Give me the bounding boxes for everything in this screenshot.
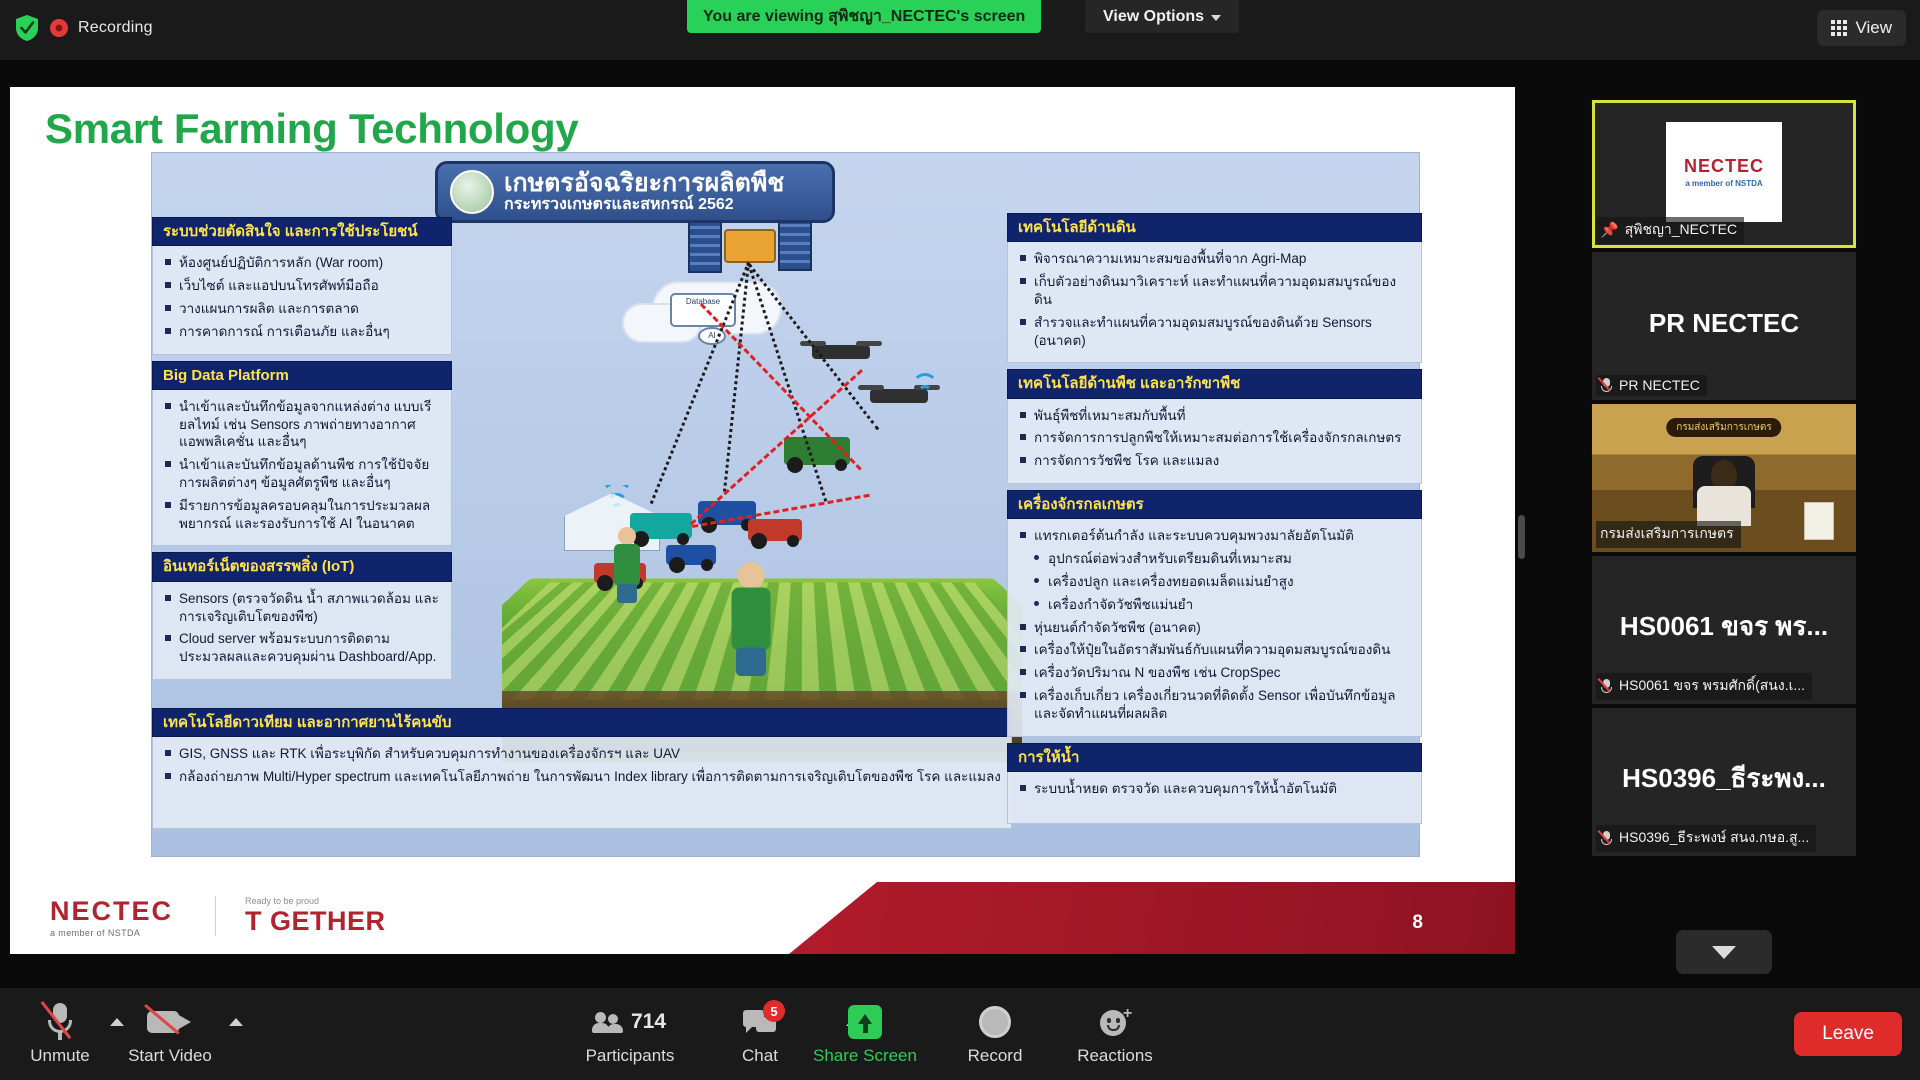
microphone-muted-icon: [1600, 378, 1613, 393]
satellite-body-icon: [724, 229, 776, 263]
together-logo-name: T GETHER: [245, 906, 386, 937]
diagram-title-line2: กระทรวงเกษตรและสหกรณ์ 2562: [504, 196, 734, 213]
start-video-label: Start Video: [128, 1046, 212, 1066]
participants-label: Participants: [586, 1046, 675, 1066]
participants-count: 714: [631, 1010, 666, 1034]
recording-label: Recording: [78, 19, 153, 37]
viewing-screen-banner: You are viewing สุพิชญา_NECTEC's screen: [687, 0, 1041, 33]
avatar: NECTEC a member of NSTDA: [1666, 122, 1782, 222]
list-item: อุปกรณ์ต่อพ่วงสำหรับเตรียมดินที่เหมาะสม: [1018, 550, 1411, 568]
list-item: วางแผนการผลิต และการตลาด: [163, 300, 441, 318]
participant-thumbnail[interactable]: PR NECTEC PR NECTEC: [1592, 252, 1856, 400]
reactions-label: Reactions: [1077, 1046, 1153, 1066]
list-item: การคาดการณ์ การเตือนภัย และอื่นๆ: [163, 323, 441, 341]
farmer-figure: [610, 527, 644, 603]
panel-body: แทรกเตอร์ต้นกำลัง และระบบควบคุมพวงมาลัยอ…: [1007, 519, 1422, 736]
recording-dot-icon[interactable]: [50, 19, 68, 37]
panel-header: ระบบช่วยตัดสินใจ และการใช้ประโยชน์: [152, 217, 452, 246]
together-logo: Ready to be proud T GETHER: [245, 896, 386, 937]
panel-iot: อินเทอร์เน็ตของสรรพสิ่ง (IoT) Sensors (ต…: [152, 552, 452, 680]
participants-button[interactable]: 714 Participants: [575, 1002, 685, 1066]
microphone-muted-icon: [1600, 831, 1613, 846]
record-circle-icon: [979, 1002, 1011, 1042]
list-item: เครื่องวัดปริมาณ N ของพืช เช่น CropSpec: [1018, 664, 1411, 682]
panel-header: เทคโนโลยีด้านพืช และอารักขาพืช: [1007, 369, 1422, 398]
panel-body: นำเข้าและบันทึกข้อมูลจากแหล่งต่าง แบบเรี…: [152, 390, 452, 547]
participant-name: สุพิชญา_NECTEC: [1625, 219, 1737, 241]
view-layout-button[interactable]: View: [1817, 10, 1906, 46]
chat-button[interactable]: 5 Chat: [705, 1002, 815, 1066]
data-flow-line: [700, 303, 862, 471]
filmstrip-scroll-down-button[interactable]: [1676, 930, 1772, 974]
list-item: เครื่องกำจัดวัชพืชแม่นยำ: [1018, 596, 1411, 614]
panel-header: เทคโนโลยีดาวเทียม และอากาศยานไร้คนขับ: [152, 708, 1012, 737]
footer-divider: [215, 896, 216, 936]
microphone-muted-icon: [1600, 679, 1613, 694]
panel-resize-handle[interactable]: [1518, 515, 1525, 559]
chat-unread-badge: 5: [763, 1000, 785, 1022]
grid-view-icon: [1831, 20, 1847, 36]
people-icon: 714: [594, 1002, 666, 1042]
list-item: ห้องศูนย์ปฏิบัติการหลัก (War room): [163, 254, 441, 272]
panel-header: การให้น้ำ: [1007, 743, 1422, 772]
panel-satellite-uav: เทคโนโลยีดาวเทียม และอากาศยานไร้คนขับ GI…: [152, 708, 1012, 829]
record-label: Record: [968, 1046, 1023, 1066]
view-options-button[interactable]: View Options: [1085, 0, 1239, 33]
document-shape: [1804, 502, 1834, 540]
page-title: Smart Farming Technology: [45, 105, 578, 153]
list-item: พิจารณาความเหมาะสมของพื้นที่จาก Agri-Map: [1018, 250, 1411, 268]
panel-body: ระบบน้ำหยด ตรวจวัด และควบคุมการให้น้ำอัต…: [1007, 772, 1422, 824]
avatar: HS0061 ขจร พร...: [1592, 606, 1856, 647]
chat-label: Chat: [742, 1046, 778, 1066]
recording-indicator-group: Recording: [14, 14, 153, 42]
participant-filmstrip: NECTEC a member of NSTDA 📌 สุพิชญา_NECTE…: [1592, 100, 1856, 980]
participant-name-tag: PR NECTEC: [1596, 375, 1707, 396]
panel-body: Sensors (ตรวจวัดดิน น้ำ สภาพแวดล้อม และก…: [152, 582, 452, 680]
participant-name-tag: HS0061 ขจร พรมศักดิ์(สนง.เ...: [1596, 673, 1812, 700]
tractor-icon: [666, 545, 716, 565]
panel-header: อินเทอร์เน็ตของสรรพสิ่ง (IoT): [152, 552, 452, 581]
panel-header: เครื่องจักรกลเกษตร: [1007, 490, 1422, 519]
panel-body: GIS, GNSS และ RTK เพื่อระบุพิกัด สำหรับค…: [152, 737, 1012, 829]
nectec-logo-sub: a member of NSTDA: [1685, 179, 1762, 188]
list-item: GIS, GNSS และ RTK เพื่อระบุพิกัด สำหรับค…: [163, 745, 1001, 763]
video-options-chevron-up-icon[interactable]: [229, 1018, 243, 1026]
participant-thumbnail[interactable]: HS0061 ขจร พร... HS0061 ขจร พรมศักดิ์(สน…: [1592, 556, 1856, 704]
nectec-logo: NECTEC a member of NSTDA: [50, 896, 173, 938]
record-button[interactable]: Record: [940, 1002, 1050, 1066]
smart-farming-diagram: Database AI: [151, 152, 1420, 857]
slide-footer: NECTEC a member of NSTDA Ready to be pro…: [10, 882, 1515, 954]
list-item: การจัดการวัชพืช โรค และแมลง: [1018, 452, 1411, 470]
avatar: HS0396_ธีระพง...: [1592, 758, 1856, 799]
reactions-button[interactable]: + Reactions: [1060, 1002, 1170, 1066]
participant-name-tag: 📌 สุพิชญา_NECTEC: [1596, 217, 1744, 244]
share-screen-button[interactable]: Share Screen: [810, 1002, 920, 1066]
participant-thumbnail[interactable]: HS0396_ธีระพง... HS0396_ธีระพงษ์ สนง.กษอ…: [1592, 708, 1856, 856]
farm-scene-illustration: Database AI: [502, 193, 1022, 793]
list-item: Sensors (ตรวจวัดดิน น้ำ สภาพแวดล้อม และก…: [163, 590, 441, 626]
smiley-plus-icon: +: [1098, 1002, 1132, 1042]
view-button-label: View: [1855, 18, 1892, 38]
pin-icon: 📌: [1600, 223, 1619, 238]
camera-off-icon: [147, 1002, 193, 1042]
list-item: เครื่องให้ปุ๋ยในอัตราสัมพันธ์กับแผนที่คว…: [1018, 641, 1411, 659]
participant-name: HS0061 ขจร พรมศักดิ์(สนง.เ...: [1619, 675, 1805, 697]
list-item: สำรวจและทำแผนที่ความอุดมสมบูรณ์ของดินด้ว…: [1018, 314, 1411, 350]
list-item: นำเข้าและบันทึกข้อมูลด้านพืช การใช้ปัจจั…: [163, 456, 441, 492]
farmer-figure: [726, 562, 777, 676]
leave-button[interactable]: Leave: [1794, 1012, 1902, 1056]
panel-body: พันธุ์พืชที่เหมาะสมกับพื้นที่ การจัดการก…: [1007, 399, 1422, 484]
list-item: แทรกเตอร์ต้นกำลัง และระบบควบคุมพวงมาลัยอ…: [1018, 527, 1411, 545]
list-item: กล้องถ่ายภาพ Multi/Hyper spectrum และเทค…: [163, 768, 1001, 786]
chevron-down-icon: [1211, 15, 1221, 21]
right-panel-column: เทคโนโลยีด้านดิน พิจารณาความเหมาะสมของพื…: [1007, 213, 1422, 824]
satellite-panel-icon: [688, 217, 722, 273]
security-shield-icon[interactable]: [14, 14, 40, 42]
participant-thumbnail[interactable]: กรมส่งเสริมการเกษตร กรมส่งเสริมการเกษตร: [1592, 404, 1856, 552]
participant-name: กรมส่งเสริมการเกษตร: [1600, 523, 1734, 545]
chevron-down-icon: [1712, 946, 1736, 959]
panel-big-data-platform: Big Data Platform นำเข้าและบันทึกข้อมูลจ…: [152, 361, 452, 547]
list-item: ระบบน้ำหยด ตรวจวัด และควบคุมการให้น้ำอัต…: [1018, 780, 1411, 798]
list-item: เครื่องเก็บเกี่ยว เครื่องเกี่ยวนวดที่ติด…: [1018, 687, 1411, 723]
panel-body: ห้องศูนย์ปฏิบัติการหลัก (War room) เว็บไ…: [152, 246, 452, 354]
participant-thumbnail[interactable]: NECTEC a member of NSTDA 📌 สุพิชญา_NECTE…: [1592, 100, 1856, 248]
panel-body: พิจารณาความเหมาะสมของพื้นที่จาก Agri-Map…: [1007, 242, 1422, 363]
list-item: หุ่นยนต์กำจัดวัชพืช (อนาคต): [1018, 619, 1411, 637]
share-screen-arrow-icon: [848, 1002, 882, 1042]
panel-decision-support: ระบบช่วยตัดสินใจ และการใช้ประโยชน์ ห้องศ…: [152, 217, 452, 355]
avatar: PR NECTEC: [1592, 308, 1856, 339]
list-item: Cloud server พร้อมระบบการติดตาม ประมวลผล…: [163, 630, 441, 666]
footer-red-wedge: [415, 882, 1515, 954]
top-bar: Recording You are viewing สุพิชญา_NECTEC…: [0, 0, 1920, 60]
left-panel-column: ระบบช่วยตัดสินใจ และการใช้ประโยชน์ ห้องศ…: [152, 217, 452, 680]
list-item: การจัดการการปลูกพืชให้เหมาะสมต่อการใช้เค…: [1018, 429, 1411, 447]
together-tagline: Ready to be proud: [245, 896, 386, 906]
participant-name: PR NECTEC: [1619, 377, 1700, 393]
participant-name-tag: กรมส่งเสริมการเกษตร: [1596, 521, 1741, 548]
nectec-logo-name: NECTEC: [50, 896, 173, 927]
satellite-panel-icon: [778, 215, 812, 271]
panel-header: Big Data Platform: [152, 361, 452, 390]
diagram-title-line1: เกษตรอัจฉริยะการผลิตพืช: [504, 169, 784, 197]
panel-crop-technology: เทคโนโลยีด้านพืช และอารักขาพืช พันธุ์พืช…: [1007, 369, 1422, 484]
microphone-muted-icon: [45, 1002, 75, 1042]
list-item: เครื่องปลูก และเครื่องทยอดเมล็ดแม่นยำสูง: [1018, 573, 1411, 591]
list-item: เก็บตัวอย่างดินมาวิเคราะห์ และทำแผนที่คว…: [1018, 273, 1411, 309]
panel-header: เทคโนโลยีด้านดิน: [1007, 213, 1422, 242]
slide-page-number: 8: [1412, 912, 1423, 934]
wifi-signal-icon: [902, 369, 948, 399]
room-sign-text: กรมส่งเสริมการเกษตร: [1666, 418, 1781, 437]
shared-screen-slide[interactable]: Smart Farming Technology Database AI: [10, 87, 1515, 954]
list-item: พันธุ์พืชที่เหมาะสมกับพื้นที่: [1018, 407, 1411, 425]
participant-name: HS0396_ธีระพงษ์ สนง.กษอ.สู...: [1619, 827, 1809, 849]
nectec-logo-name: NECTEC: [1684, 156, 1764, 177]
list-item: เว็บไซต์ และแอปบนโทรศัพท์มือถือ: [163, 277, 441, 295]
panel-soil-technology: เทคโนโลยีด้านดิน พิจารณาความเหมาะสมของพื…: [1007, 213, 1422, 363]
view-options-label: View Options: [1103, 8, 1204, 26]
start-video-button[interactable]: Start Video: [115, 1002, 225, 1066]
meeting-toolbar: Unmute Start Video 714 Participants 5 Ch…: [0, 988, 1920, 1080]
list-item: มีรายการข้อมูลครอบคลุมในการประมวลผล พยาก…: [163, 497, 441, 533]
participant-name-tag: HS0396_ธีระพงษ์ สนง.กษอ.สู...: [1596, 825, 1816, 852]
panel-agricultural-machinery: เครื่องจักรกลเกษตร แทรกเตอร์ต้นกำลัง และ…: [1007, 490, 1422, 737]
panel-irrigation: การให้น้ำ ระบบน้ำหยด ตรวจวัด และควบคุมกา…: [1007, 743, 1422, 824]
unmute-label: Unmute: [30, 1046, 90, 1066]
list-item: นำเข้าและบันทึกข้อมูลจากแหล่งต่าง แบบเรี…: [163, 398, 441, 451]
person-body-shape: [1697, 486, 1751, 526]
viewing-screen-text: You are viewing สุพิชญา_NECTEC's screen: [703, 4, 1025, 29]
ministry-seal-icon: [450, 170, 494, 214]
share-screen-label: Share Screen: [813, 1046, 917, 1066]
chat-bubble-icon: 5: [743, 1002, 777, 1042]
tractor-icon: [748, 519, 802, 541]
diagram-title-banner: เกษตรอัจฉริยะการผลิตพืช กระทรวงเกษตรและส…: [435, 161, 835, 223]
unmute-button[interactable]: Unmute: [5, 1002, 115, 1066]
nectec-logo-sub: a member of NSTDA: [50, 928, 173, 938]
